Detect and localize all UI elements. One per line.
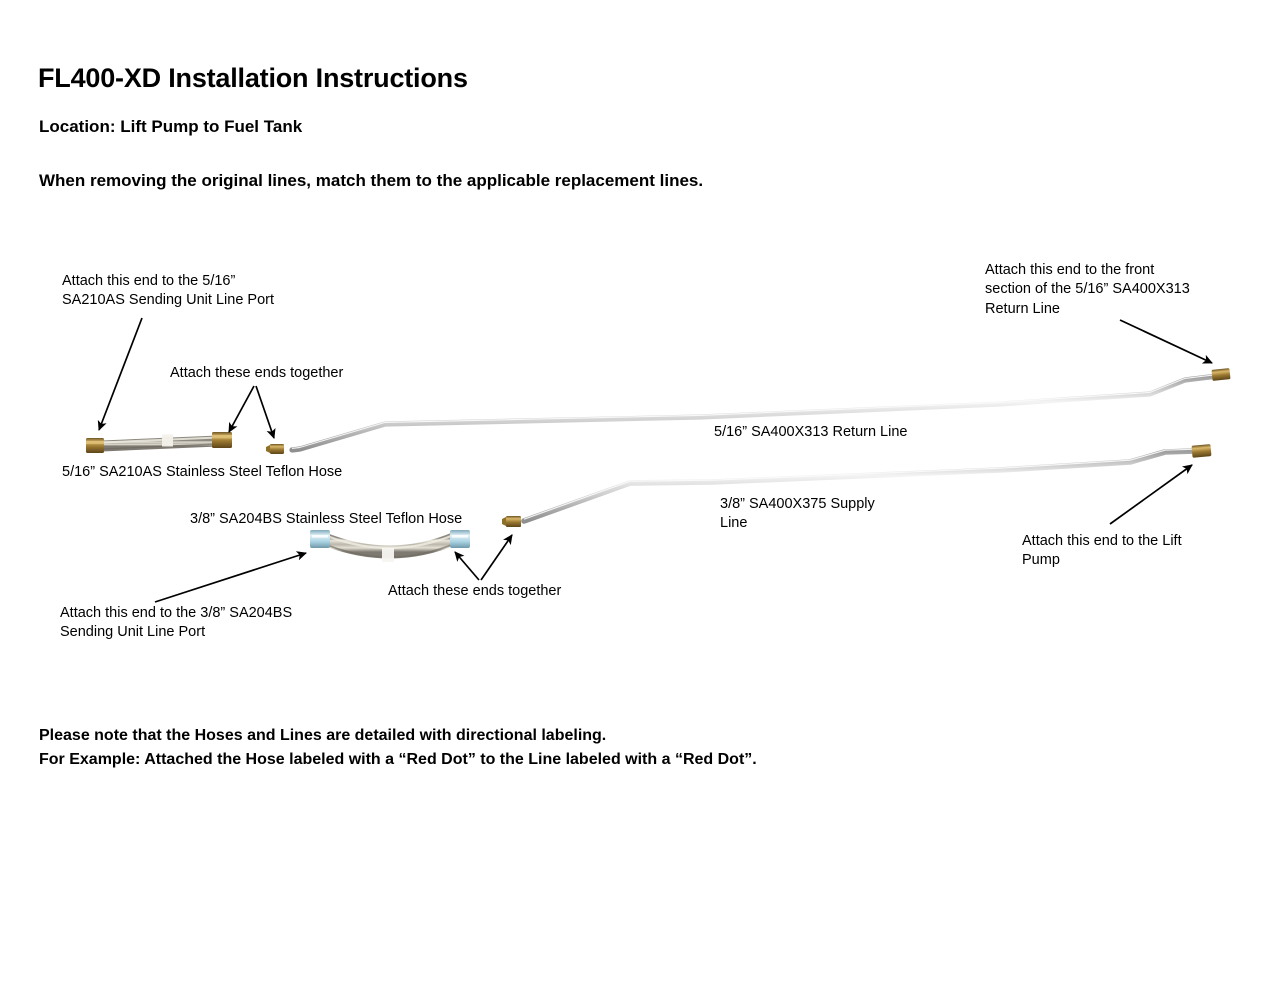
callout-hose-5-16-port: Attach this end to the 5/16” SA210AS Sen… — [62, 272, 274, 311]
note-red-dot-example: For Example: Attached the Hose labeled w… — [39, 750, 757, 770]
arrow-to-return-line-right-end — [1120, 320, 1212, 363]
callout-front-section-return-line: Attach this end to the front section of … — [985, 261, 1190, 319]
arrow-to-hose516-left-end — [99, 318, 142, 430]
supply-line-right-fitting — [1192, 444, 1212, 458]
label-hose-3-8-sa204bs: 3/8” SA204BS Stainless Steel Teflon Hose — [190, 510, 462, 529]
hose-5-16-right-fitting — [212, 432, 232, 448]
arrow-ends-bottom-right — [481, 535, 512, 580]
arrow-ends-top-left — [229, 386, 254, 432]
return-line-right-fitting — [1211, 368, 1230, 381]
callout-hose-3-8-port: Attach this end to the 3/8” SA204BS Send… — [60, 604, 292, 643]
installation-instructions-page: FL400-XD Installation Instructions Locat… — [0, 0, 1280, 989]
part-hose-5-16-sa210as — [86, 432, 232, 453]
label-hose-5-16-sa210as: 5/16” SA210AS Stainless Steel Teflon Hos… — [62, 463, 342, 482]
supply-line-left-fitting — [502, 516, 521, 527]
arrow-to-hose38-left-end — [155, 553, 306, 602]
part-hose-3-8-sa204bs — [310, 530, 470, 562]
arrow-to-supply-line-right-end — [1110, 465, 1192, 524]
callout-ends-together-top: Attach these ends together — [170, 364, 343, 383]
arrow-ends-bottom-left — [455, 552, 479, 580]
hose-5-16-left-fitting — [86, 438, 104, 453]
parts-diagram — [0, 0, 1280, 989]
label-supply-line-sa400x375: 3/8” SA400X375 Supply Line — [720, 495, 875, 534]
arrow-ends-top-right — [256, 386, 274, 438]
hose-3-8-right-fitting — [450, 530, 470, 548]
note-directional-labeling: Please note that the Hoses and Lines are… — [39, 726, 606, 746]
hose-3-8-left-fitting — [310, 530, 330, 548]
label-return-line-sa400x313: 5/16” SA400X313 Return Line — [714, 423, 907, 442]
callout-lift-pump: Attach this end to the Lift Pump — [1022, 532, 1182, 571]
return-line-left-fitting — [266, 444, 284, 454]
callout-ends-together-bottom: Attach these ends together — [388, 582, 561, 601]
